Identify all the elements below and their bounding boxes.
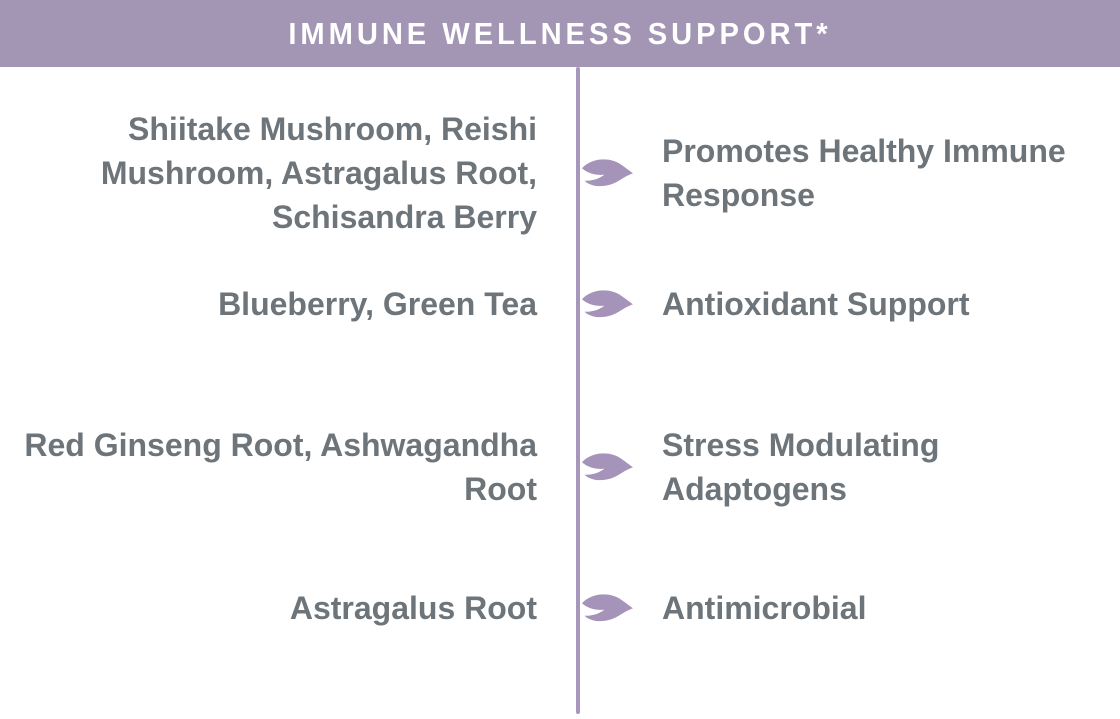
- leaf-icon-cell: [537, 449, 662, 485]
- benefit-row: Blueberry, Green Tea Antioxidant Support: [0, 275, 1120, 333]
- leaf-icon: [580, 449, 634, 485]
- page-title: IMMUNE WELLNESS SUPPORT*: [288, 18, 831, 49]
- leaf-icon: [580, 286, 634, 322]
- ingredient-list: Red Ginseng Root, Ashwagandha Root: [0, 423, 537, 511]
- benefit-label: Stress Modulating Adaptogens: [662, 423, 1120, 511]
- benefit-label: Antimicrobial: [662, 586, 1120, 630]
- benefit-label: Promotes Healthy Immune Response: [662, 129, 1120, 217]
- header-bar: IMMUNE WELLNESS SUPPORT*: [0, 0, 1120, 67]
- immune-wellness-support-panel: IMMUNE WELLNESS SUPPORT* Shiitake Mushro…: [0, 0, 1120, 719]
- leaf-icon-cell: [537, 286, 662, 322]
- leaf-icon: [580, 155, 634, 191]
- leaf-icon-cell: [537, 590, 662, 626]
- ingredient-list: Blueberry, Green Tea: [0, 282, 537, 326]
- ingredient-list: Astragalus Root: [0, 586, 537, 630]
- benefit-row: Shiitake Mushroom, Reishi Mushroom, Astr…: [0, 103, 1120, 243]
- leaf-icon-cell: [537, 155, 662, 191]
- benefit-row: Astragalus Root Antimicrobial: [0, 579, 1120, 637]
- benefit-row: Red Ginseng Root, Ashwagandha Root Stres…: [0, 411, 1120, 523]
- ingredient-list: Shiitake Mushroom, Reishi Mushroom, Astr…: [0, 107, 537, 239]
- leaf-icon: [580, 590, 634, 626]
- benefit-rows: Shiitake Mushroom, Reishi Mushroom, Astr…: [0, 67, 1120, 719]
- benefit-label: Antioxidant Support: [662, 282, 1120, 326]
